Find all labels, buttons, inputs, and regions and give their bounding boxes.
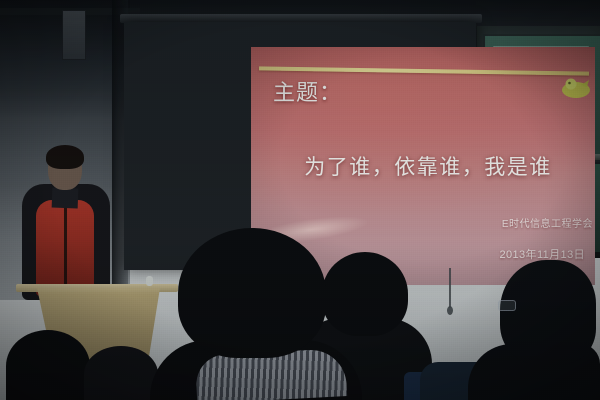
eyeglasses bbox=[498, 300, 516, 311]
projection-screen: 主题： 为了谁，依靠谁，我是谁 E时代信息工程学会 2013年11月13日 bbox=[124, 22, 476, 270]
audience-head-center-right bbox=[322, 252, 408, 336]
speaker-vest-seam bbox=[64, 204, 67, 294]
slide-headline: 为了谁，依靠谁，我是谁 bbox=[304, 151, 552, 181]
slide-title-label: 主题： bbox=[273, 75, 342, 107]
speaker-collar bbox=[52, 188, 79, 209]
speaker-at-podium bbox=[12, 148, 120, 298]
screen-pull-cord bbox=[449, 268, 451, 308]
lecture-hall-photo: 主题： 为了谁，依靠谁，我是谁 E时代信息工程学会 2013年11月13日 bbox=[0, 0, 600, 400]
audience-head-right-profile bbox=[500, 260, 596, 364]
audience-head-far-left bbox=[6, 330, 90, 400]
lectern-microphone bbox=[146, 276, 153, 286]
audience-head-left bbox=[84, 346, 158, 400]
wall-speaker-box bbox=[62, 10, 86, 60]
speaker-hair bbox=[46, 145, 84, 169]
audience-head-center bbox=[178, 228, 326, 358]
society-emblem bbox=[559, 75, 593, 101]
slide-organization: E时代信息工程学会 bbox=[502, 215, 593, 230]
